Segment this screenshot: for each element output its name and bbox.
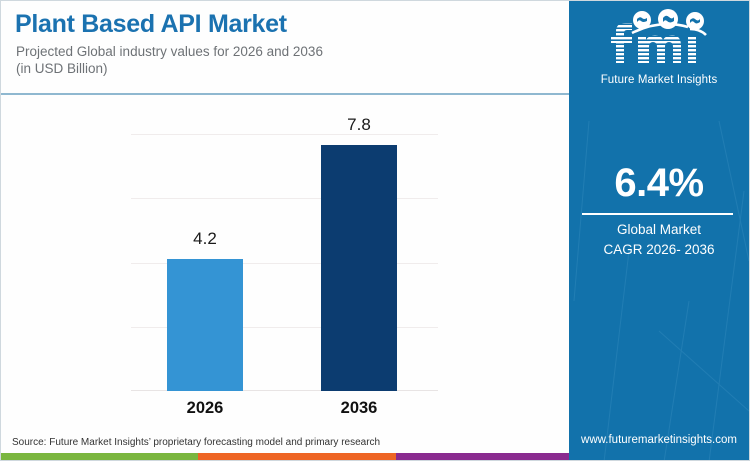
globe-icons — [632, 9, 706, 35]
bar-2036 — [321, 145, 397, 391]
cagr-value: 6.4% — [569, 161, 749, 206]
bar-value-2036: 7.8 — [321, 115, 397, 135]
fmi-logo: Future Market Insights — [569, 9, 749, 86]
logo-caption: Future Market Insights — [569, 74, 749, 86]
fmi-logo-mark — [594, 9, 724, 67]
footer-stripe-purple — [396, 453, 571, 461]
bar-value-2026: 4.2 — [167, 229, 243, 249]
chart-subtitle: Projected Global industry values for 202… — [16, 43, 323, 77]
page-title: Plant Based API Market — [15, 10, 287, 39]
cagr-divider — [582, 213, 733, 215]
cagr-caption: Global Market CAGR 2026- 2036 — [569, 220, 749, 260]
website-url: www.futuremarketinsights.com — [569, 434, 749, 446]
brand-panel: Future Market Insights 6.4% Global Marke… — [569, 1, 749, 461]
footer-stripe-orange — [198, 453, 396, 461]
chart-pane: Plant Based API Market Projected Global … — [1, 1, 571, 461]
category-label-2026: 2026 — [157, 399, 253, 418]
footer-stripe-green — [1, 453, 198, 461]
category-label-2036: 2036 — [311, 399, 407, 418]
infographic-container: Plant Based API Market Projected Global … — [0, 0, 750, 461]
bar-2026 — [167, 259, 243, 391]
header-divider — [1, 93, 571, 95]
source-note: Source: Future Market Insights’ propriet… — [12, 437, 380, 448]
bar-chart-plot: 4.2 7.8 2026 2036 — [131, 134, 438, 391]
